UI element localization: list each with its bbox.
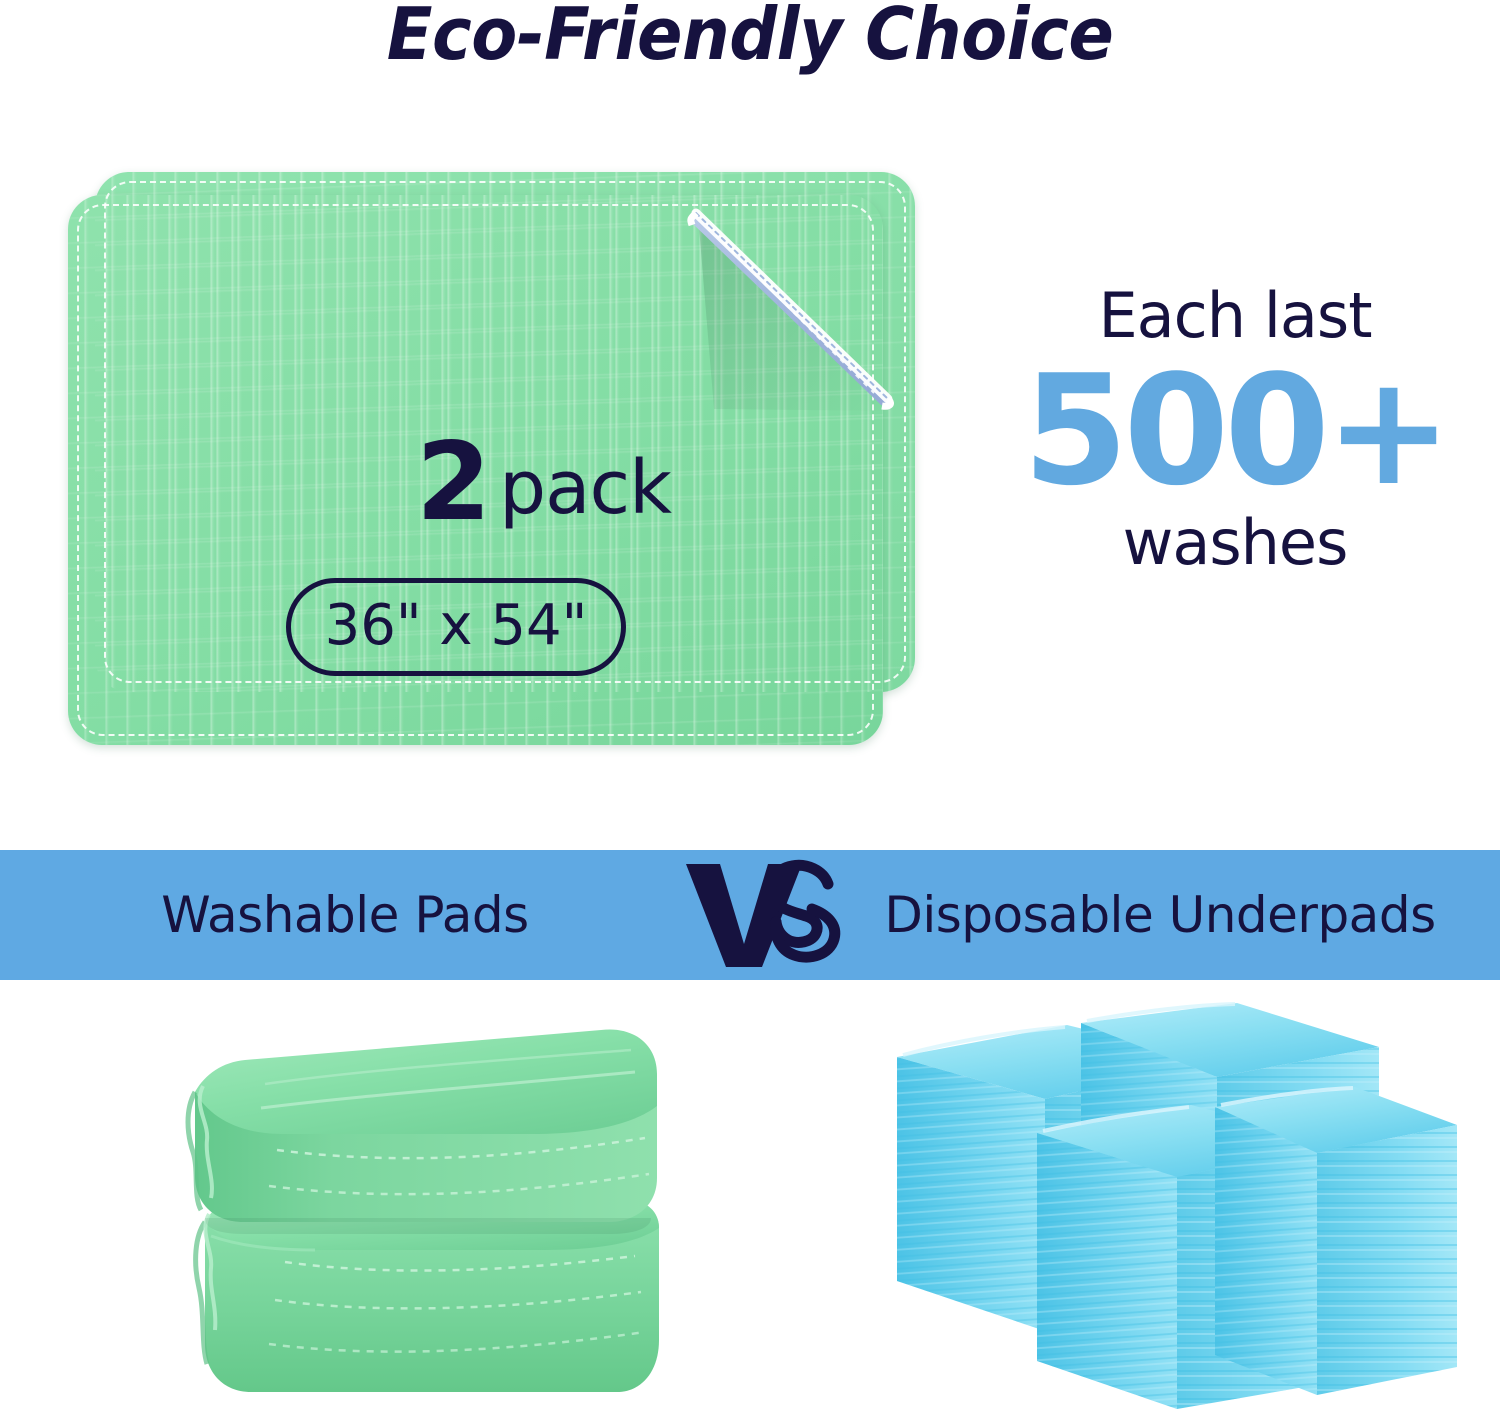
washable-pad-front: 2pack 36" x 54" [68, 195, 883, 745]
dimensions-badge: 36" x 54" [286, 578, 626, 676]
versus-left-label: Washable Pads [0, 850, 690, 980]
versus-right-label: Disposable Underpads [830, 850, 1490, 980]
claim-highlight: 500+ [1020, 353, 1450, 508]
pack-count-label: 2pack [136, 420, 951, 545]
versus-banner: Washable Pads Disposable Underpads [0, 850, 1500, 980]
washable-pads-stack [165, 1000, 685, 1410]
versus-mark-icon [680, 858, 850, 973]
pack-count-word: pack [499, 445, 671, 531]
pack-count-number: 2 [416, 420, 489, 545]
claim-line-2: washes [1020, 512, 1450, 574]
dimensions-text: 36" x 54" [325, 593, 588, 658]
washes-claim: Each last 500+ washes [1020, 285, 1450, 574]
comparison-section [0, 985, 1500, 1422]
disposable-underpads-stack [885, 995, 1460, 1415]
hero-product-section: 2pack 36" x 54" Each last 500+ washes [0, 95, 1500, 835]
claim-line-1: Each last [1020, 285, 1450, 347]
folded-corner-icon [674, 203, 906, 435]
page-title: Eco-Friendly Choice [53, 0, 1448, 76]
